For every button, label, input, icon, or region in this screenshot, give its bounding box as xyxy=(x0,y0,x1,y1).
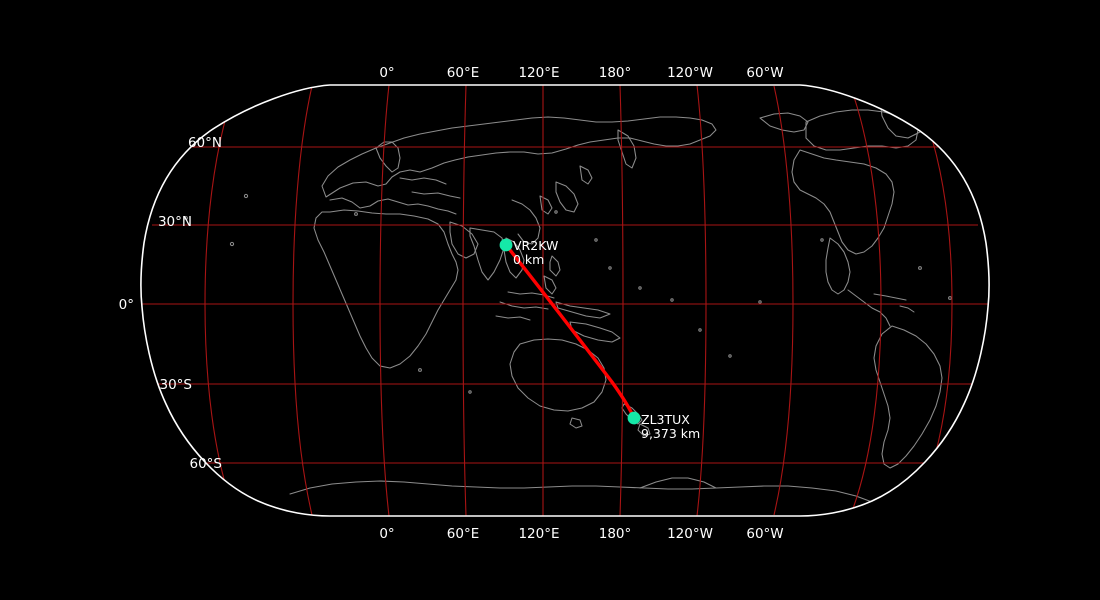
destination-callsign-label: ZL3TUX xyxy=(641,412,690,427)
lon-tick-top-0: 0° xyxy=(379,65,394,81)
origin-distance-label: 0 km xyxy=(513,252,544,267)
lon-tick-top-2: 120°E xyxy=(518,65,559,81)
robinson-map[interactable]: 0° 60°E 120°E 180° 120°W 60°W 0° 60°E 12… xyxy=(0,0,1100,600)
lon-tick-bottom-2: 120°E xyxy=(518,526,559,542)
origin-callsign-label: VR2KW xyxy=(513,238,558,253)
lon-tick-top-5: 60°W xyxy=(746,65,783,81)
lon-tick-bottom-3: 180° xyxy=(599,526,632,542)
lon-tick-bottom-1: 60°E xyxy=(447,526,479,542)
destination-distance-label: 9,373 km xyxy=(641,426,700,441)
lon-tick-bottom-0: 0° xyxy=(379,526,394,542)
lat-tick-0: 60°N xyxy=(188,135,222,151)
lat-tick-1: 30°N xyxy=(158,214,192,230)
lon-tick-top-4: 120°W xyxy=(667,65,713,81)
lat-tick-3: 30°S xyxy=(160,377,193,393)
lon-tick-bottom-5: 60°W xyxy=(746,526,783,542)
lon-tick-bottom-4: 120°W xyxy=(667,526,713,542)
destination-marker-dot[interactable] xyxy=(628,412,641,425)
lat-tick-2: 0° xyxy=(119,297,134,313)
lat-tick-4: 60°S xyxy=(190,456,223,472)
lon-tick-top-3: 180° xyxy=(599,65,632,81)
lon-tick-top-1: 60°E xyxy=(447,65,479,81)
origin-marker-dot[interactable] xyxy=(500,239,513,252)
figure-canvas: Robinson Projection OL72 to RE66HO (142°… xyxy=(0,0,1100,600)
